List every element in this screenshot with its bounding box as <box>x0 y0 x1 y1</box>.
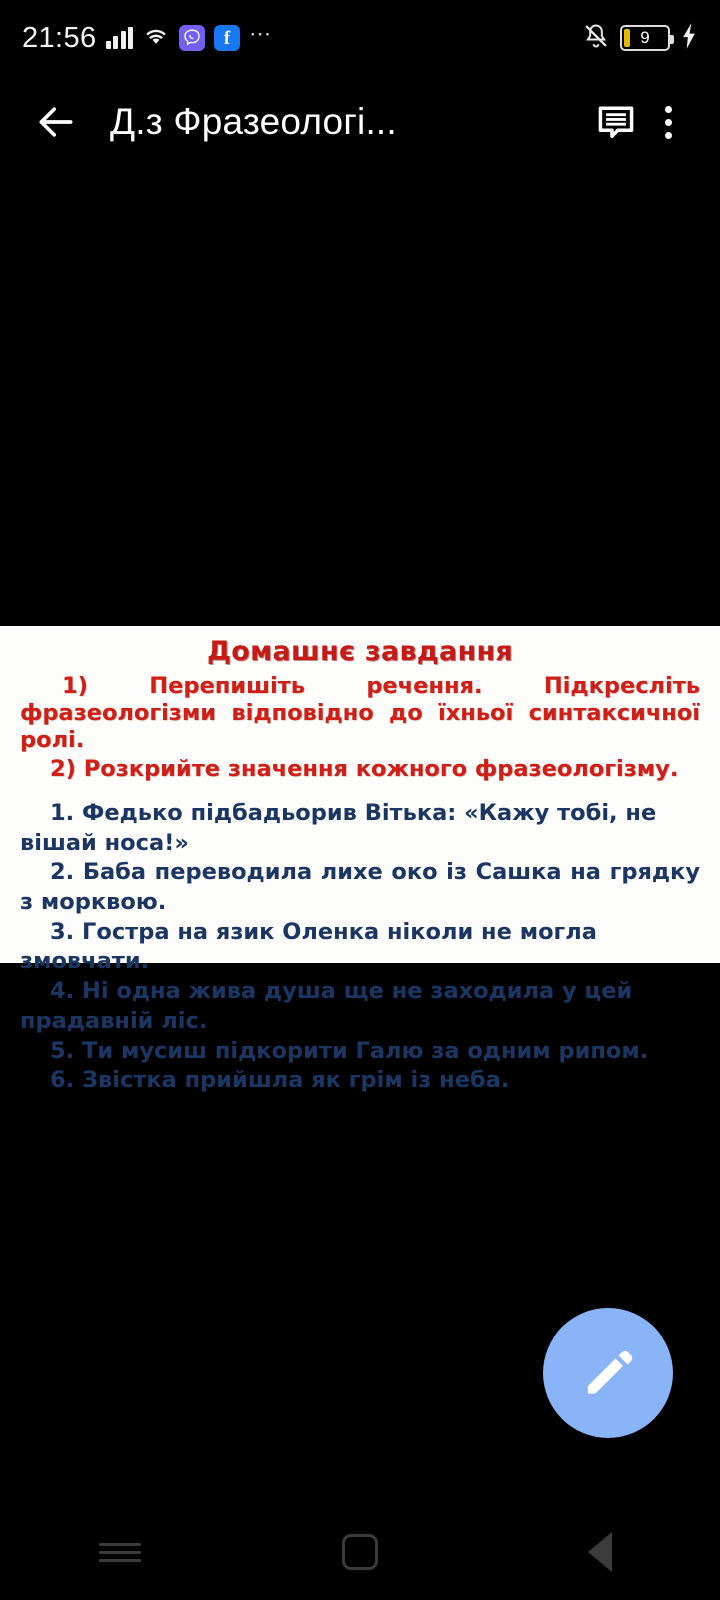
dot <box>665 119 672 126</box>
task-item: 1) Перепишіть речення. Підкресліть фразе… <box>20 673 700 754</box>
facebook-icon: f <box>214 25 240 51</box>
edit-pencil-icon <box>577 1342 639 1404</box>
back-triangle <box>588 1532 612 1572</box>
recents-icon[interactable] <box>60 1517 180 1587</box>
recents-lines <box>99 1538 141 1567</box>
task-item: 2) Розкрийте значення кожного фразеологі… <box>20 756 700 783</box>
list-item: 6. Звістка прийшла як грім із неба. <box>20 1066 700 1096</box>
dot <box>665 132 672 139</box>
battery-fill <box>624 29 630 47</box>
status-bar-left: 21:56 f ⋯ <box>22 22 272 55</box>
status-bar-right: 9 <box>582 22 698 55</box>
android-nav-bar <box>0 1504 720 1600</box>
viber-icon <box>179 25 205 51</box>
home-square <box>342 1534 378 1570</box>
arrow-left-icon <box>34 100 78 144</box>
phone-screen: 21:56 f ⋯ <box>0 0 720 1600</box>
status-bar: 21:56 f ⋯ <box>0 0 720 76</box>
list-item: 4. Ні одна жива душа ще не заходила у це… <box>20 977 700 1036</box>
signal-bars-icon <box>106 27 134 49</box>
more-notifications-icon: ⋯ <box>249 29 272 48</box>
charging-bolt-icon <box>680 22 698 55</box>
document-heading: Домашнє завдання <box>20 636 700 667</box>
wifi-icon <box>142 25 170 52</box>
battery-level-label: 9 <box>640 28 649 48</box>
back-triangle-icon[interactable] <box>540 1517 660 1587</box>
back-button[interactable] <box>28 94 84 150</box>
list-item: 1. Федько підбадьорив Вітька: «Кажу тобі… <box>20 799 700 858</box>
edit-fab-button[interactable] <box>543 1308 673 1438</box>
list-item: 3. Гостра на язик Оленка ніколи не могла… <box>20 918 700 977</box>
list-item: 2. Баба переводила лихе око із Сашка на … <box>20 858 700 917</box>
home-square-icon[interactable] <box>300 1517 420 1587</box>
dot <box>665 106 672 113</box>
more-vertical-icon[interactable] <box>644 94 692 150</box>
comment-button[interactable] <box>588 94 644 150</box>
document-page-image[interactable]: Домашнє завдання 1) Перепишіть речення. … <box>0 626 720 963</box>
page-title: Д.з Фразеологі... <box>110 101 572 143</box>
notifications-muted-icon <box>582 22 610 55</box>
status-clock: 21:56 <box>22 22 97 55</box>
sentence-list: 1. Федько підбадьорив Вітька: «Кажу тобі… <box>20 799 700 1096</box>
app-bar: Д.з Фразеологі... <box>0 76 720 168</box>
comment-icon <box>594 100 638 144</box>
battery-indicator: 9 <box>620 25 670 51</box>
list-item: 5. Ти мусиш підкорити Галю за одним рипо… <box>20 1037 700 1067</box>
